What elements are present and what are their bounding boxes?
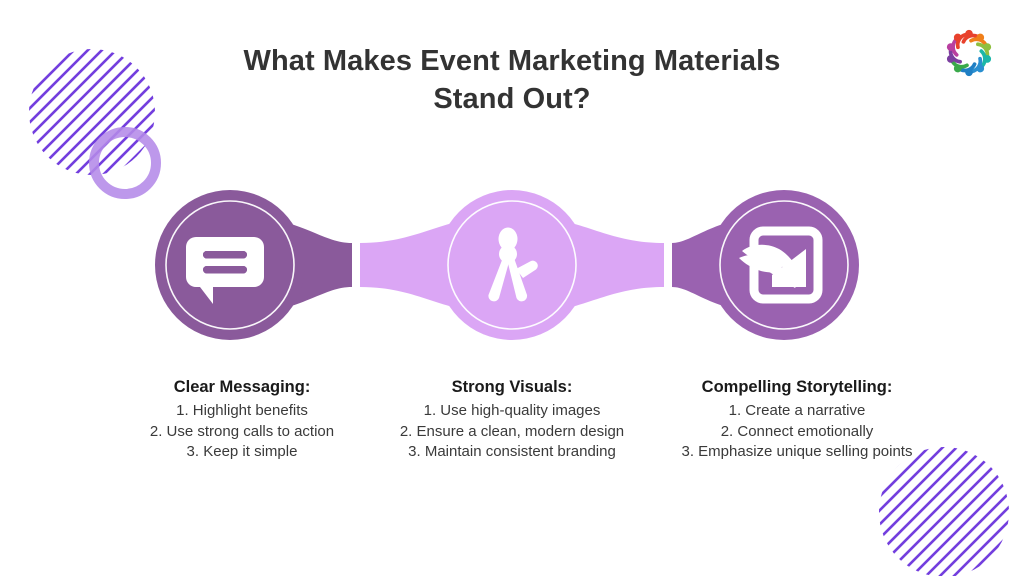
column-clear-messaging: Clear Messaging: 1. Highlight benefits 2… [92, 376, 392, 462]
page-title-line-1: What Makes Event Marketing Materials [0, 42, 1024, 80]
column-3-list: 1. Create a narrative 2. Connect emotion… [632, 401, 962, 462]
column-2-heading: Strong Visuals: [362, 376, 662, 398]
page-title: What Makes Event Marketing Materials Sta… [0, 42, 1024, 119]
list-item: 3. Keep it simple [92, 442, 392, 462]
list-item: 2. Use strong calls to action [92, 422, 392, 442]
list-item: 1. Highlight benefits [92, 401, 392, 421]
list-item: 2. Connect emotionally [632, 422, 962, 442]
list-item: 1. Create a narrative [632, 401, 962, 421]
list-item: 1. Use high-quality images [362, 401, 662, 421]
process-diagram [0, 165, 1024, 365]
column-1-heading: Clear Messaging: [92, 376, 392, 398]
column-1-list: 1. Highlight benefits 2. Use strong call… [92, 401, 392, 462]
column-2-list: 1. Use high-quality images 2. Ensure a c… [362, 401, 662, 462]
column-strong-visuals: Strong Visuals: 1. Use high-quality imag… [362, 376, 662, 462]
list-item: 3. Maintain consistent branding [362, 442, 662, 462]
diagram-node-strong-visuals[interactable] [437, 190, 587, 340]
page-title-line-2: Stand Out? [0, 80, 1024, 118]
column-compelling-storytelling: Compelling Storytelling: 1. Create a nar… [632, 376, 962, 462]
infographic-canvas: What Makes Event Marketing Materials Sta… [0, 0, 1024, 576]
list-item: 2. Ensure a clean, modern design [362, 422, 662, 442]
diagram-node-clear-messaging[interactable] [155, 190, 305, 340]
diagram-node-compelling-storytelling[interactable] [709, 190, 859, 340]
columns-container: Clear Messaging: 1. Highlight benefits 2… [0, 376, 1024, 486]
list-item: 3. Emphasize unique selling points [632, 442, 962, 462]
column-3-heading: Compelling Storytelling: [632, 376, 962, 398]
